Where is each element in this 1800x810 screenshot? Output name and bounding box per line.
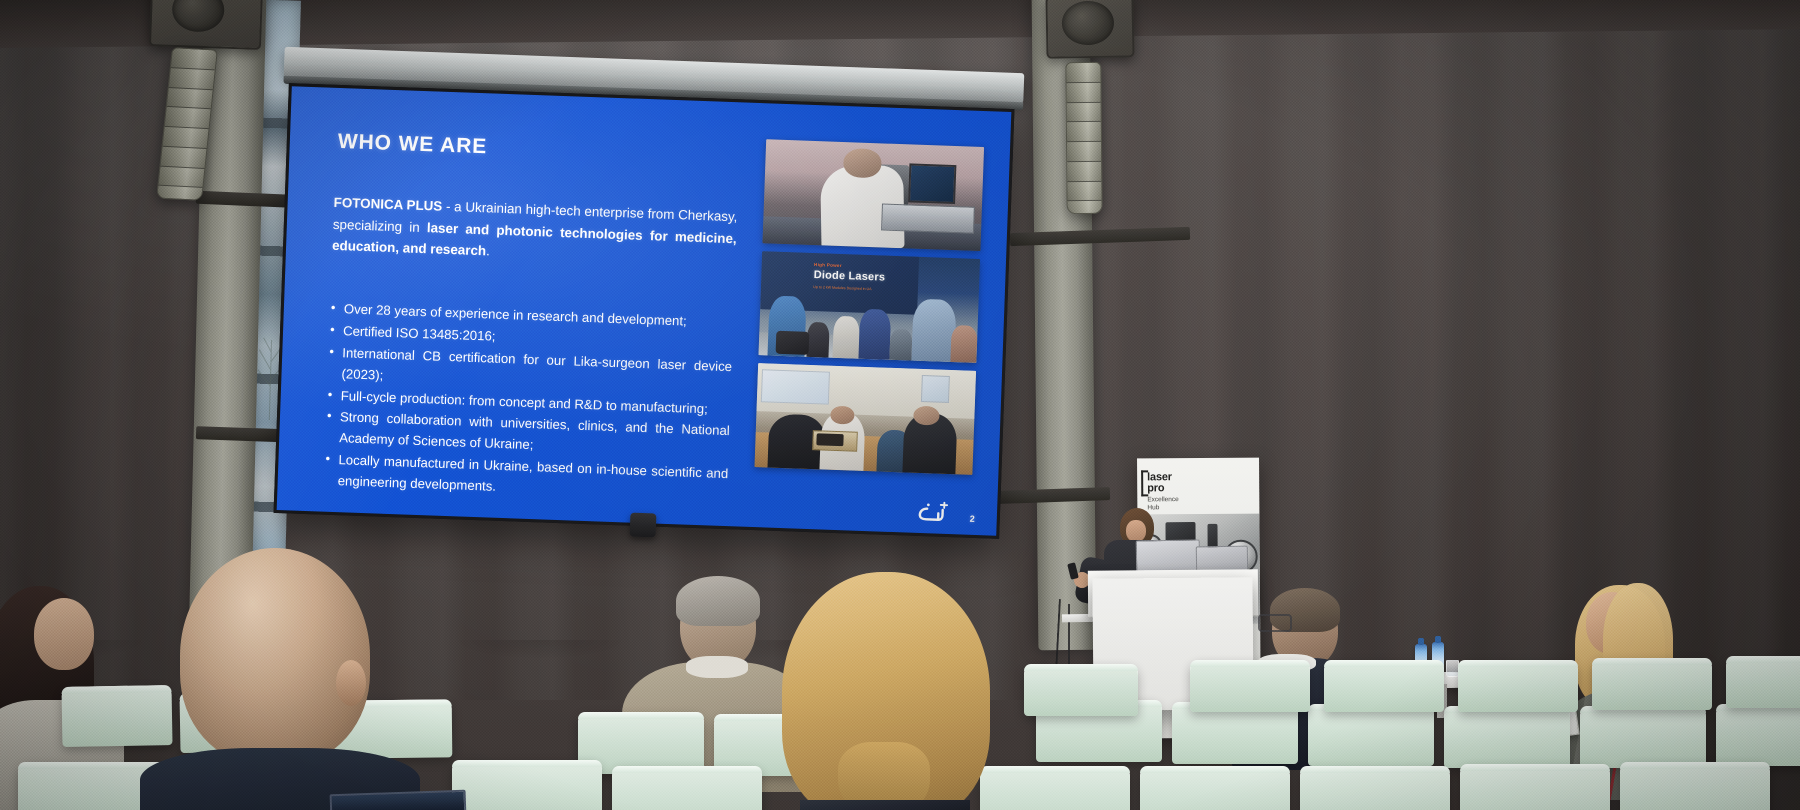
seat[interactable] xyxy=(612,766,762,810)
slide-photo-stack: High Power Diode Lasers Up to 2 kW Modul… xyxy=(754,139,984,475)
speaker-cabinet-right xyxy=(1045,0,1134,59)
seat[interactable] xyxy=(1580,706,1706,768)
ceiling-microphone xyxy=(630,513,657,538)
seat[interactable] xyxy=(1140,766,1290,810)
seat[interactable] xyxy=(1300,766,1450,810)
banner-logo: laser pro xyxy=(1147,472,1172,494)
seat[interactable] xyxy=(980,766,1130,810)
seat[interactable] xyxy=(61,685,172,747)
seat[interactable] xyxy=(1324,660,1444,712)
seat[interactable] xyxy=(1620,762,1770,810)
presenter-face xyxy=(1126,520,1146,542)
fotonica-plus-logo xyxy=(915,501,950,524)
seat[interactable] xyxy=(1726,656,1800,708)
presentation-slide: WHO WE ARE FOTONICA PLUS - a Ukrainian h… xyxy=(277,86,1012,535)
lead-end: . xyxy=(486,244,490,259)
banner-sub-line1: Excellence xyxy=(1147,496,1178,503)
hair-grey xyxy=(676,576,760,626)
seat[interactable] xyxy=(1308,704,1434,766)
eyeglasses-icon xyxy=(1258,614,1292,632)
seat[interactable] xyxy=(1024,664,1138,716)
slide-page-number: 2 xyxy=(970,514,975,524)
line-array-speaker-right xyxy=(1065,62,1102,214)
speaker-cone-left xyxy=(171,0,225,33)
banner-subtitle: Excellence Hub xyxy=(1147,496,1179,512)
projection-screen[interactable]: WHO WE ARE FOTONICA PLUS - a Ukrainian h… xyxy=(274,83,1015,539)
head xyxy=(180,548,370,764)
ear xyxy=(336,660,366,706)
speaker-cabinet-left xyxy=(149,0,263,50)
booth-banner-small-text: High Power xyxy=(814,262,842,268)
photo-lab-technician xyxy=(763,139,985,251)
seat[interactable] xyxy=(1716,704,1800,766)
head xyxy=(34,598,94,670)
seat[interactable] xyxy=(1460,764,1610,810)
banner-logo-line2: pro xyxy=(1147,482,1164,494)
conference-room-photo: WHO WE ARE FOTONICA PLUS - a Ukrainian h… xyxy=(0,0,1800,810)
lead-company-name: FOTONICA PLUS xyxy=(333,195,442,214)
seat[interactable] xyxy=(1458,660,1578,712)
slide-text-column: FOTONICA PLUS - a Ukrainian high-tech en… xyxy=(323,192,738,507)
seat[interactable] xyxy=(1592,658,1712,710)
slide-lead-paragraph: FOTONICA PLUS - a Ukrainian high-tech en… xyxy=(332,192,738,272)
banner-sub-line2: Hub xyxy=(1147,504,1159,511)
seat[interactable] xyxy=(1444,706,1570,768)
seat[interactable] xyxy=(1190,660,1310,712)
shirt-collar xyxy=(686,656,748,678)
slide-bullet-list: Over 28 years of experience in research … xyxy=(323,299,734,506)
photo-engineering-meeting xyxy=(754,363,976,475)
booth-banner-headline: Diode Lasers xyxy=(814,269,886,284)
foreground-laptop[interactable] xyxy=(330,790,467,810)
seat[interactable] xyxy=(452,760,602,810)
speaker-cone-right xyxy=(1062,1,1115,46)
photo-trade-show-booth: High Power Diode Lasers Up to 2 kW Modul… xyxy=(758,251,980,363)
shoulders xyxy=(800,800,970,810)
